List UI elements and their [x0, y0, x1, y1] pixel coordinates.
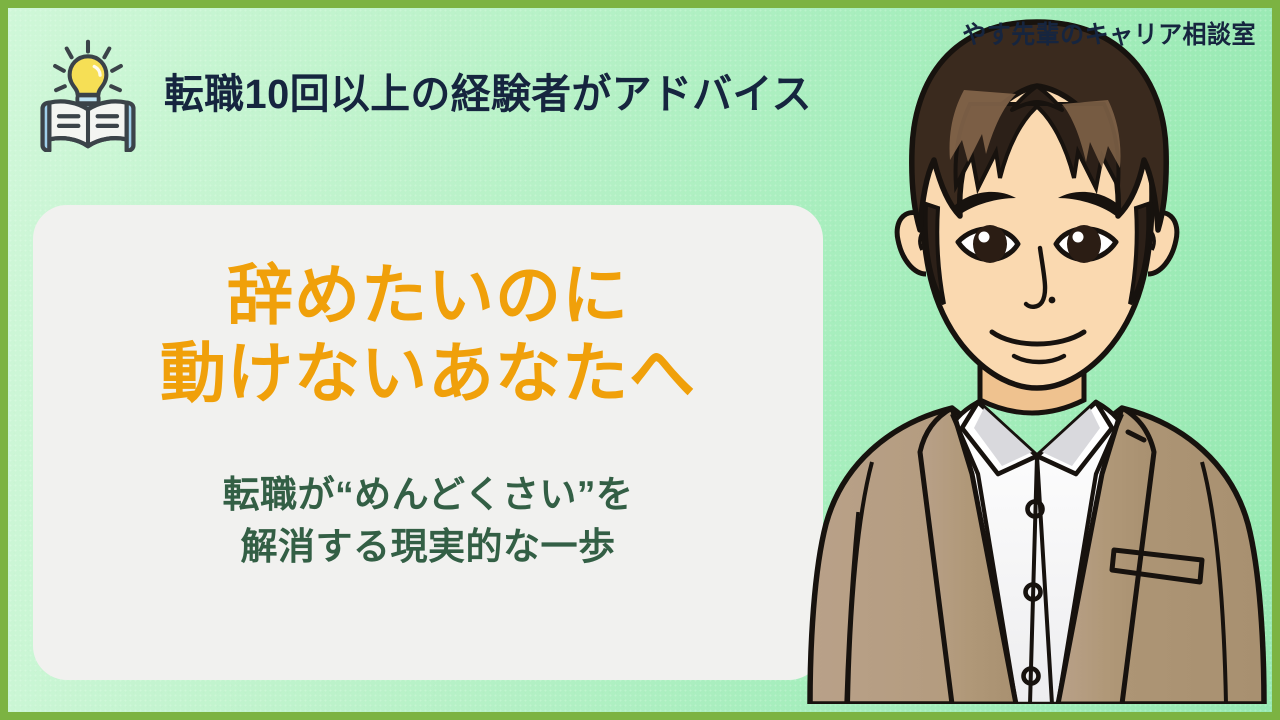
- card-subtitle: 転職が“めんどくさい”を 解消する現実的な一歩: [223, 469, 634, 574]
- lightbulb-book-icon: [30, 36, 146, 152]
- slide-canvas: 転職10回以上の経験者がアドバイス やす先輩のキャリア相談室 辞めたいのに 動け…: [0, 0, 1280, 720]
- card-title: 辞めたいのに 動けないあなたへ: [160, 257, 696, 413]
- card-title-line-2: 動けないあなたへ: [160, 335, 696, 413]
- suit-body: [810, 356, 1264, 704]
- outer-green-frame: 転職10回以上の経験者がアドバイス やす先輩のキャリア相談室 辞めたいのに 動け…: [0, 0, 1280, 720]
- head: [897, 22, 1177, 388]
- header: 転職10回以上の経験者がアドバイス: [30, 36, 832, 152]
- card-subtitle-line-1: 転職が“めんどくさい”を: [223, 474, 634, 515]
- card-subtitle-line-2: 解消する現実的な一歩: [223, 521, 634, 574]
- main-content-card: 辞めたいのに 動けないあなたへ 転職が“めんどくさい”を 解消する現実的な一歩: [33, 205, 823, 680]
- brand-label: やす先輩のキャリア相談室: [962, 15, 1256, 51]
- slide-background: 転職10回以上の経験者がアドバイス やす先輩のキャリア相談室 辞めたいのに 動け…: [8, 8, 1272, 712]
- card-title-line-1: 辞めたいのに: [227, 258, 629, 332]
- header-title: 転職10回以上の経験者がアドバイス: [164, 74, 812, 115]
- male-advisor-portrait: [802, 8, 1272, 704]
